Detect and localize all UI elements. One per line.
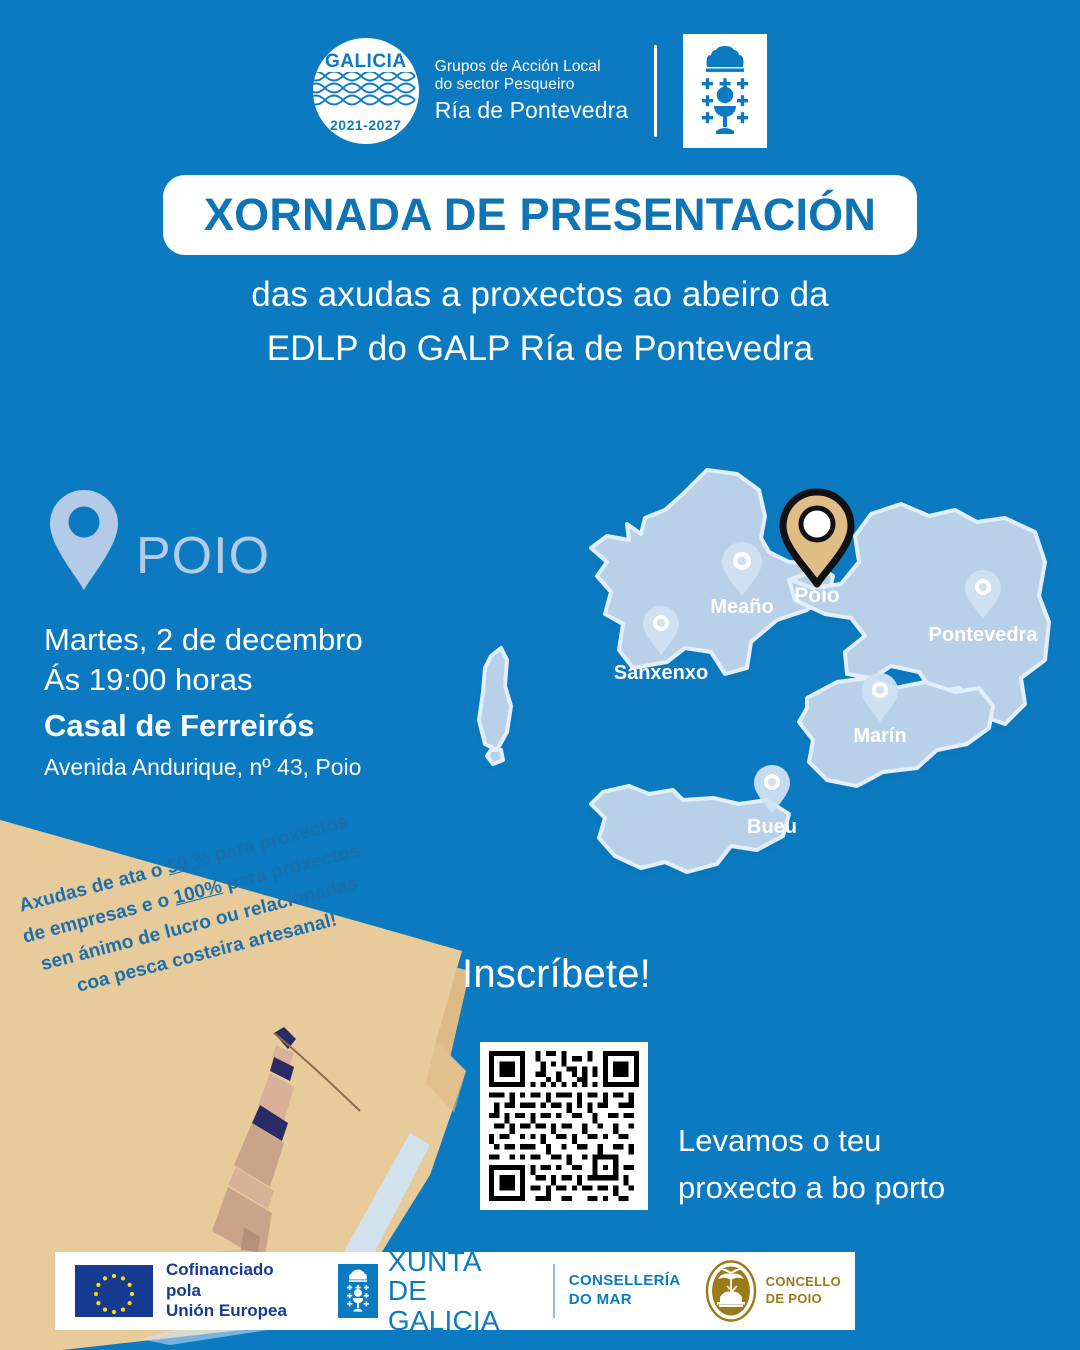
region-map: Meaño Sanxenxo Pontevedra <box>455 430 1080 930</box>
concello-line-2: DE POIO <box>766 1291 841 1308</box>
map-label-sanxenxo: Sanxenxo <box>614 662 708 684</box>
map-pin-icon <box>46 488 122 592</box>
chalice-crown-icon <box>343 1269 373 1313</box>
map-label-pontevedra: Pontevedra <box>929 624 1039 646</box>
conselleria-line-2: DO MAR <box>569 1291 681 1310</box>
page-title: XORNADA DE PRESENTACIÓN <box>204 189 876 241</box>
galp-logo-lockup: GALICIA 2021-2027 Grupos de Acción Local… <box>313 38 629 144</box>
xunta-emblem <box>683 34 767 148</box>
eu-flag-icon <box>75 1265 153 1317</box>
xunta-footer-text: XUNTA DE GALICIA <box>388 1247 539 1336</box>
event-date: Martes, 2 de decembro <box>44 620 474 660</box>
eu-line-2: Unión Europea <box>166 1301 304 1322</box>
galp-logo-text: Grupos de Acción Local do sector Pesquei… <box>435 58 629 125</box>
galp-circle-logo: GALICIA 2021-2027 <box>313 38 419 144</box>
map-label-bueu: Bueu <box>747 816 797 838</box>
signup-heading: Inscríbete! <box>462 952 651 997</box>
map-svg: Meaño Sanxenxo Pontevedra <box>455 430 1080 930</box>
event-details: Martes, 2 de decembro Ás 19:00 horas Cas… <box>44 620 474 784</box>
event-time: Ás 19:00 horas <box>44 660 474 700</box>
concello-seal-icon <box>705 1260 757 1322</box>
map-label-poio: Poio <box>794 584 840 607</box>
galp-circle-years: 2021-2027 <box>313 117 419 133</box>
galp-line-3: Ría de Pontevedra <box>435 97 629 124</box>
card-pct-100: 100% <box>171 876 224 909</box>
conselleria-line-1: CONSELLERÍA <box>569 1272 681 1291</box>
subtitle-line-1: das axudas a proxectos ao abeiro da <box>0 268 1080 322</box>
footer-divider <box>553 1264 555 1318</box>
fishing-net-icon <box>313 72 419 112</box>
xunta-line-1: XUNTA <box>388 1247 539 1277</box>
concello-line-1: CONCELLO <box>766 1274 841 1291</box>
eu-funding-logo: Cofinanciado pola Unión Europea <box>75 1260 304 1322</box>
concello-de-poio-logo: CONCELLO DE POIO <box>705 1260 841 1322</box>
conselleria-text: CONSELLERÍA DO MAR <box>569 1272 681 1309</box>
event-venue: Casal de Ferreirós <box>44 705 474 748</box>
subtitle-line-2: EDLP do GALP Ría de Pontevedra <box>0 322 1080 376</box>
tagline-line-1: Levamos o teu <box>678 1118 1018 1165</box>
footer-logo-bar: Cofinanciado pola Unión Europea <box>55 1252 855 1330</box>
map-label-meano: Meaño <box>710 596 773 618</box>
tagline-line-2: proxecto a bo porto <box>678 1165 1018 1212</box>
xunta-line-2: DE GALICIA <box>388 1276 539 1335</box>
qr-code-svg <box>489 1051 639 1201</box>
concello-de-poio-text: CONCELLO DE POIO <box>766 1274 841 1307</box>
galp-line-1: Grupos de Acción Local <box>435 58 629 76</box>
eu-funding-text: Cofinanciado pola Unión Europea <box>166 1260 304 1322</box>
chalice-crown-icon <box>694 45 756 137</box>
signup-tagline: Levamos o teu proxecto a bo porto <box>678 1118 1018 1211</box>
galp-circle-title: GALICIA <box>313 51 419 73</box>
header-divider <box>654 45 657 137</box>
event-location-heading: POIO <box>46 488 270 592</box>
xunta-footer-logo: XUNTA DE GALICIA <box>338 1247 539 1336</box>
eu-line-1: Cofinanciado pola <box>166 1260 304 1301</box>
page-subtitle: das axudas a proxectos ao abeiro da EDLP… <box>0 268 1080 377</box>
title-pill: XORNADA DE PRESENTACIÓN <box>163 175 917 255</box>
event-location-label: POIO <box>136 526 270 592</box>
registration-qr-code[interactable] <box>480 1042 648 1210</box>
galp-line-2: do sector Pesqueiro <box>435 76 629 94</box>
poster-root: GALICIA 2021-2027 Grupos de Acción Local… <box>0 0 1080 1350</box>
event-address: Avenida Andurique, nº 43, Poio <box>44 751 474 783</box>
eu-stars-icon <box>75 1265 153 1317</box>
xunta-emblem-small <box>338 1264 378 1318</box>
map-label-marin: Marín <box>853 725 906 747</box>
header-logo-bar: GALICIA 2021-2027 Grupos de Acción Local… <box>0 34 1080 148</box>
card-pct-50: 50 % <box>165 847 213 878</box>
